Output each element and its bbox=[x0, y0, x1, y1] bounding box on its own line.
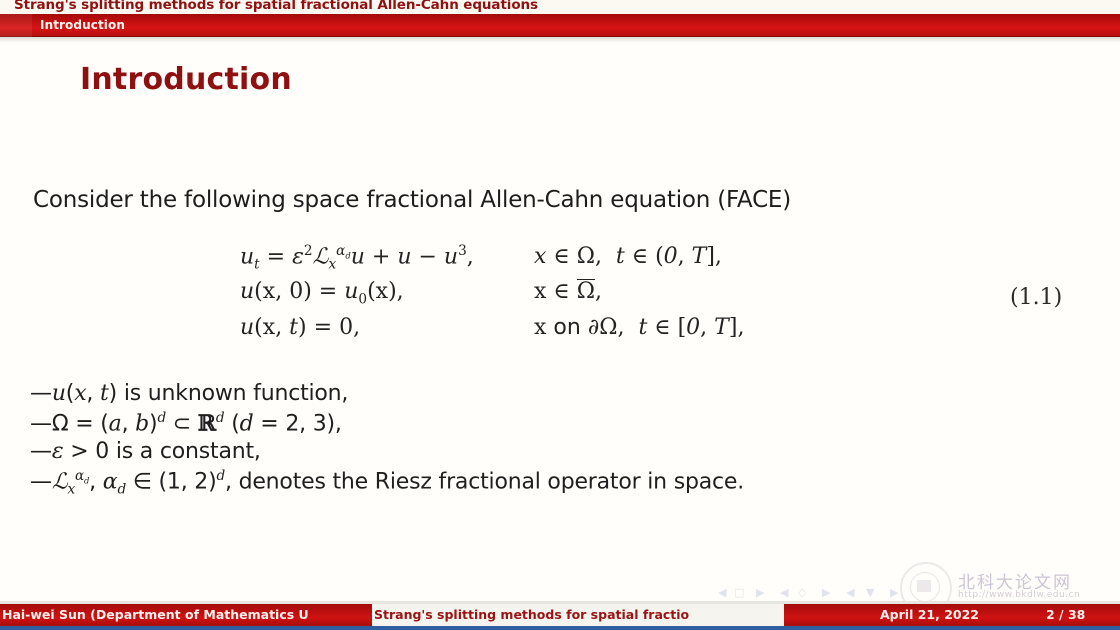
nav-section-icon[interactable]: ▼ bbox=[866, 587, 874, 598]
beamer-nav-symbols[interactable]: ◀ □ ▶ ◀ ◇ ▶ ◀ ▼ ▶ bbox=[718, 584, 928, 600]
nav-next-section-icon[interactable]: ▶ bbox=[890, 587, 898, 598]
definition-list: —u(x, t) is unknown function, —Ω = (a, b… bbox=[30, 381, 744, 497]
list-item: —ℒxαd, αd ∈ (1, 2)d, denotes the Riesz f… bbox=[30, 468, 744, 497]
equation-number: (1.1) bbox=[1010, 285, 1062, 310]
nav-section-introduction[interactable]: Introduction bbox=[40, 18, 125, 32]
paper-title-header: Strang's splitting methods for spatial f… bbox=[14, 0, 538, 13]
beamer-navigation-bar[interactable]: Introduction bbox=[0, 14, 1120, 37]
equation-2-rhs: x ∈ Ω, bbox=[520, 279, 602, 304]
equation-2-lhs: u(x, 0) = u0(x), bbox=[240, 279, 520, 307]
equation-row-2: u(x, 0) = u0(x), x ∈ Ω, bbox=[240, 279, 744, 315]
list-item: —Ω = (a, b)d ⊂ ℝd (d = 2, 3), bbox=[30, 410, 744, 439]
intro-sentence: Consider the following space fractional … bbox=[33, 187, 791, 213]
nav-first-slide-icon[interactable]: ◀ bbox=[718, 587, 726, 598]
nav-first-frame-icon[interactable]: ◀ bbox=[780, 587, 788, 598]
footer-date: April 21, 2022 bbox=[880, 604, 979, 626]
nav-next-slide-icon[interactable]: ▶ bbox=[756, 587, 764, 598]
equation-1-rhs: x ∈ Ω, t ∈ (0, T], bbox=[520, 244, 722, 269]
navbar-shadow bbox=[0, 37, 1120, 42]
footer-paper-title: Strang's splitting methods for spatial f… bbox=[372, 604, 784, 626]
equation-1-lhs: ut = ε2ℒxαdu + u − u3, bbox=[240, 243, 520, 273]
presentation-slide: Strang's splitting methods for spatial f… bbox=[0, 0, 1120, 630]
headline-strip: Strang's splitting methods for spatial f… bbox=[0, 0, 1120, 14]
nav-frame-icon[interactable]: ◇ bbox=[798, 587, 806, 598]
nav-first-section-icon[interactable]: ◀ bbox=[846, 587, 854, 598]
equation-3-rhs: x on ∂Ω, t ∈ [0, T], bbox=[520, 315, 744, 340]
page-title: Introduction bbox=[80, 62, 292, 97]
navbar-left-block bbox=[0, 14, 32, 37]
equation-row-3: u(x, t) = 0, x on ∂Ω, t ∈ [0, T], bbox=[240, 315, 744, 351]
list-item: —u(x, t) is unknown function, bbox=[30, 381, 744, 410]
slide-footer: Hai-wei Sun (Department of Mathematics U… bbox=[0, 604, 1120, 626]
footer-author: Hai-wei Sun (Department of Mathematics U bbox=[0, 604, 372, 626]
equation-block: ut = ε2ℒxαdu + u − u3, x ∈ Ω, t ∈ (0, T]… bbox=[240, 243, 744, 351]
watermark-url: http://www.bkdlw.edu.cn bbox=[958, 590, 1080, 600]
equation-3-lhs: u(x, t) = 0, bbox=[240, 315, 520, 340]
nav-prev-slide-icon[interactable]: □ bbox=[734, 587, 744, 598]
nav-next-frame-icon[interactable]: ▶ bbox=[822, 587, 830, 598]
list-item: —ε > 0 is a constant, bbox=[30, 439, 744, 468]
equation-row-1: ut = ε2ℒxαdu + u − u3, x ∈ Ω, t ∈ (0, T]… bbox=[240, 243, 744, 279]
footer-bottom-strip bbox=[0, 626, 1120, 630]
footer-page-number: 2 / 38 bbox=[1046, 604, 1085, 626]
